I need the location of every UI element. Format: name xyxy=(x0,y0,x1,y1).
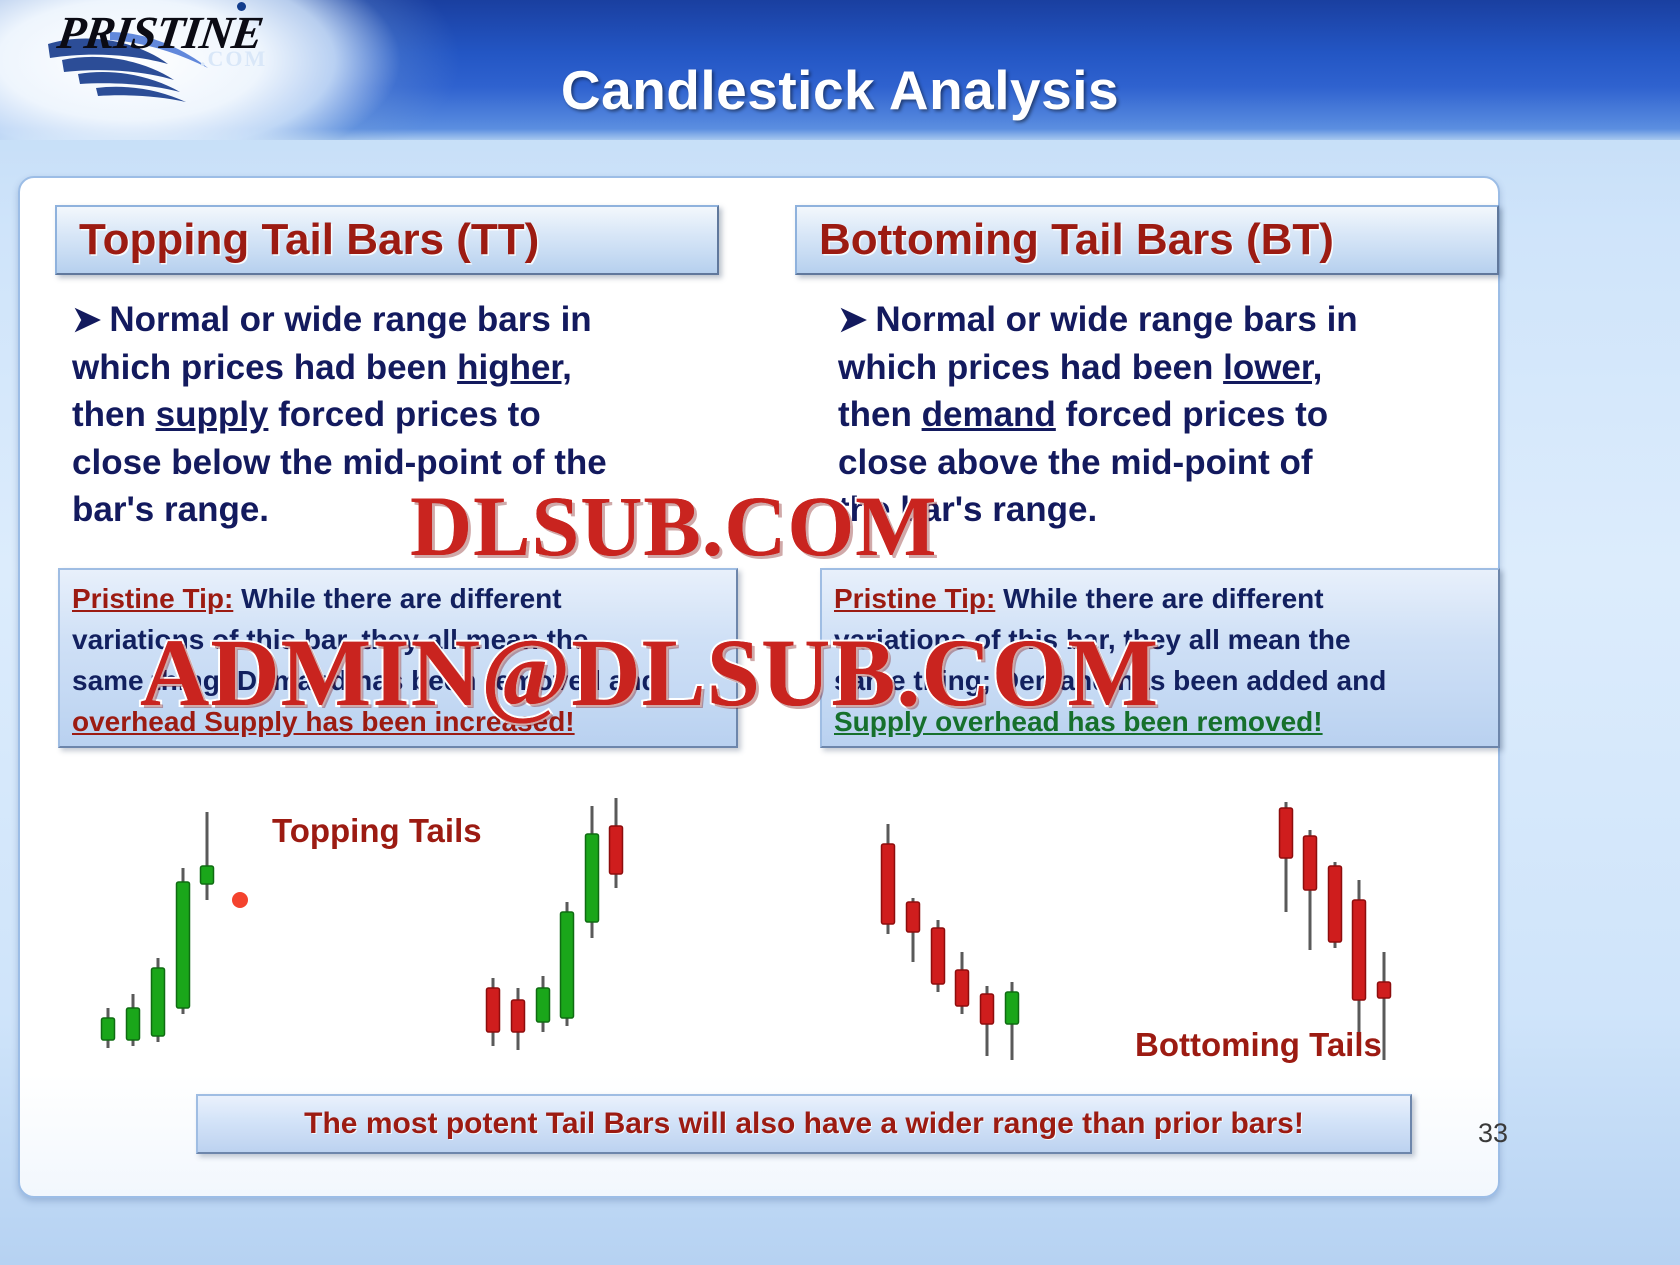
tip-bottoming-line-2: variations of this bar, they all mean th… xyxy=(834,619,1488,660)
slide: PRISTINE .COM Candlestick Analysis Toppi… xyxy=(0,0,1680,1265)
candle-body xyxy=(127,1008,140,1040)
tip-topping-line-2: variations of this bar, they all mean th… xyxy=(72,619,726,660)
bottom-banner: The most potent Tail Bars will also have… xyxy=(196,1094,1412,1154)
body-line-bottoming-5: the bar's range. xyxy=(838,490,1097,529)
heading-bottoming-label: Bottoming Tail Bars (BT) xyxy=(797,215,1334,265)
candle-body xyxy=(586,834,599,922)
candle-body-bottoming-tail xyxy=(981,994,994,1024)
tip-bottoming-line-4: Supply overhead has been removed! xyxy=(834,701,1488,742)
candle-body-bottoming-tail xyxy=(956,970,969,1006)
heading-bottoming-tail-bars: Bottoming Tail Bars (BT) xyxy=(795,205,1499,275)
chart-annotation-bottoming-tails: Bottoming Tails xyxy=(1135,1026,1382,1064)
pristine-tip-topping: Pristine Tip: While there are different … xyxy=(58,568,738,748)
tip-bottoming-line-3: same thing; Demand has been added and xyxy=(834,660,1488,701)
bullet-arrow-icon: ➤ xyxy=(838,300,867,339)
candle-body xyxy=(177,882,190,1008)
heading-topping-tail-bars: Topping Tail Bars (TT) xyxy=(55,205,719,275)
body-text-topping: ➤Normal or wide range bars in which pric… xyxy=(72,296,712,534)
chart-marker-dot xyxy=(232,892,248,908)
page-title: Candlestick Analysis xyxy=(0,58,1680,122)
candle-body-bottoming-tail xyxy=(1304,836,1317,890)
logo-dot-icon xyxy=(237,2,246,11)
bullet-arrow-icon: ➤ xyxy=(72,300,101,339)
candle-body xyxy=(487,988,500,1032)
candle-body-topping-tail xyxy=(201,866,214,884)
tip-topping-text-1: While there are different xyxy=(241,583,562,614)
tip-topping-line-4: overhead Supply has been increased! xyxy=(72,701,726,742)
tip-bottoming-text-1: While there are different xyxy=(1003,583,1324,614)
tip-topping-line-1: Pristine Tip: While there are different xyxy=(72,578,726,619)
page-number: 33 xyxy=(1478,1118,1508,1149)
body-text-bottoming: ➤Normal or wide range bars in which pric… xyxy=(838,296,1478,534)
heading-topping-label: Topping Tail Bars (TT) xyxy=(57,215,539,265)
candle-body xyxy=(1329,866,1342,942)
body-line-bottoming-4: close above the mid-point of xyxy=(838,443,1312,482)
body-line-bottoming-3: then demand forced prices to xyxy=(838,395,1328,434)
body-line-bottoming-1: Normal or wide range bars in xyxy=(875,300,1357,339)
candle-body-bottoming-tail xyxy=(907,902,920,932)
candle-body xyxy=(932,928,945,984)
candle-body-bottoming-tail xyxy=(1353,900,1366,1000)
body-line-topping-4: close below the mid-point of the xyxy=(72,443,607,482)
body-line-bottoming-2: which prices had been lower, xyxy=(838,348,1322,387)
candle-body xyxy=(152,968,165,1036)
candle-body xyxy=(561,912,574,1018)
body-line-topping-3: then supply forced prices to xyxy=(72,395,541,434)
candle-body-topping-tail xyxy=(610,826,623,874)
body-line-topping-1: Normal or wide range bars in xyxy=(109,300,591,339)
candle-body xyxy=(102,1018,115,1040)
chart-annotation-topping-tails: Topping Tails xyxy=(272,812,482,850)
tip-bottoming-line-1: Pristine Tip: While there are different xyxy=(834,578,1488,619)
candle-body xyxy=(512,1000,525,1032)
candle-body xyxy=(882,844,895,924)
tip-topping-line-3: same thing; Demand has been removed and xyxy=(72,660,726,701)
body-line-topping-5: bar's range. xyxy=(72,490,269,529)
bottom-banner-text: The most potent Tail Bars will also have… xyxy=(304,1107,1304,1141)
candle-body-bottoming-tail xyxy=(1378,982,1391,998)
pristine-tip-bottoming: Pristine Tip: While there are different … xyxy=(820,568,1500,748)
candle-body xyxy=(537,988,550,1022)
body-line-topping-2: which prices had been higher, xyxy=(72,348,572,387)
candle-body-bottoming-tail xyxy=(1280,808,1293,858)
tip-bottoming-label: Pristine Tip: xyxy=(834,583,995,614)
tip-topping-label: Pristine Tip: xyxy=(72,583,233,614)
candle-body-bottoming-tail xyxy=(1006,992,1019,1024)
